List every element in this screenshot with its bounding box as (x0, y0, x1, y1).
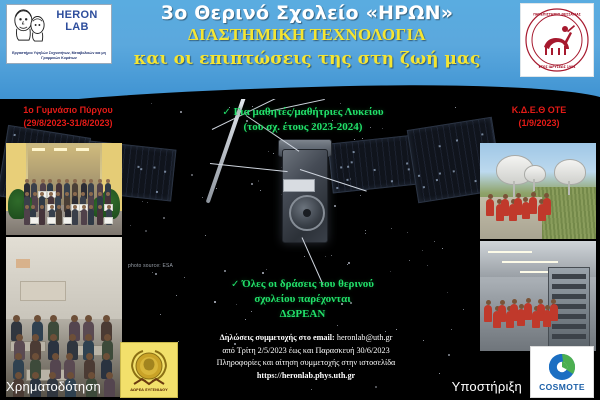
bullet-free-line3: ΔΩΡΕΑΝ (185, 307, 420, 322)
bullet-audience-line1: ✓ Για μαθητές/μαθήτριες Λυκείου (178, 105, 428, 120)
bullet-audience-line2: (του σχ. έτους 2023-2024) (178, 120, 428, 135)
bullet-free: ✓ Όλες οι δράσεις του θερινού σχολείου π… (185, 277, 420, 322)
university-of-thessaly-logo: ΠΑΝΕΠΙΣΤΗΜΙΟ ΘΕΣΣΑΛΙΑΣ ΕΤΟΣ ΙΔΡΥΣΕΩΣ 198… (520, 3, 594, 77)
image-credit: photo source: ESA (128, 263, 173, 269)
photo-classroom-workshop (6, 237, 122, 397)
solar-panel-right-inner (328, 135, 421, 194)
photo-technical-facility-image (480, 241, 596, 351)
bullet-free-line2: σχολείου παρέχονται (185, 292, 420, 307)
check-icon: ✓ (231, 279, 239, 290)
info-line-email: Δηλώσεις συμμετοχής στο email: heronlab@… (170, 332, 442, 345)
info-email-label: Δηλώσεις συμμετοχής στο email: (220, 333, 335, 342)
cosmote-wordmark: COSMOTE (539, 382, 585, 392)
poster-tagline: και οι επιπτώσεις της στη ζωή μας (112, 49, 502, 70)
venue-left-line2: (29/8/2023-31/8/2023) (4, 117, 132, 130)
support-logo: COSMOTE (530, 346, 594, 398)
photo-satellite-dishes (480, 143, 596, 239)
photo-classroom-workshop-image (6, 237, 122, 397)
poster-subtitle: ΔΙΑΣΤΗΜΙΚΗ ΤΕΧΝΟΛΟΓΙΑ (112, 25, 502, 45)
poster-title-block: 3ο Θερινό Σχολείο «ΗΡΩΝ» ΔΙΑΣΤΗΜΙΚΗ ΤΕΧΝ… (112, 2, 502, 70)
page-title: 3ο Θερινό Σχολείο «ΗΡΩΝ» (112, 2, 502, 24)
bullet-free-line1: ✓ Όλες οι δράσεις του θερινού (185, 277, 420, 292)
poster-canvas: HERON LAB Εργαστήριο Υψηλών Συχνοτήτων, … (0, 0, 600, 400)
photo-technical-facility (480, 241, 596, 351)
heron-philosopher-icon (10, 8, 48, 42)
info-website-url[interactable]: https://heronlab.phys.uth.gr (170, 370, 442, 383)
check-icon: ✓ (222, 107, 230, 118)
venue-label-right: Κ.Δ.Ε.Θ ΟΤΕ (1/9/2023) (482, 104, 596, 130)
svg-text:ΠΑΝΕΠΙΣΤΗΜΙΟ ΘΕΣΣΑΛΙΑΣ: ΠΑΝΕΠΙΣΤΗΜΙΟ ΘΕΣΣΑΛΙΑΣ (533, 13, 581, 17)
bullet-audience: ✓ Για μαθητές/μαθήτριες Λυκείου (του σχ.… (178, 105, 428, 135)
registration-info: Δηλώσεις συμμετοχής στο email: heronlab@… (170, 332, 442, 382)
spacecraft-high-gain-antenna (289, 195, 325, 231)
centaur-seal-icon: ΠΑΝΕΠΙΣΤΗΜΙΟ ΘΕΣΣΑΛΙΑΣ ΕΤΟΣ ΙΔΡΥΣΕΩΣ 198… (524, 7, 590, 73)
spacecraft-radiator (283, 179, 315, 192)
heron-lab-logo: HERON LAB Εργαστήριο Υψηλών Συχνοτήτων, … (6, 4, 112, 64)
bullet-audience-text1: Για μαθητές/μαθήτριες Λυκείου (234, 106, 384, 118)
cosmote-swirl-icon (548, 353, 576, 381)
info-email-value[interactable]: heronlab@uth.gr (337, 333, 393, 342)
svg-text:ΔΩΡΕΑ ΕΥΓΕΝΙΔΟΥ: ΔΩΡΕΑ ΕΥΓΕΝΙΔΟΥ (130, 388, 168, 392)
support-label: Υποστήριξη (452, 379, 522, 394)
golden-laurel-seal-icon: ΔΩΡΕΑ ΕΥΓΕΝΙΔΟΥ (124, 346, 174, 394)
svg-text:ΕΤΟΣ ΙΔΡΥΣΕΩΣ 1984: ΕΤΟΣ ΙΔΡΥΣΕΩΣ 1984 (539, 65, 577, 69)
photo-satellite-dishes-image (480, 143, 596, 239)
info-line-website-label: Πληροφορίες και αίτηση συμμετοχής στην ι… (170, 357, 442, 370)
heron-lab-name-line2: LAB (49, 21, 105, 33)
heron-lab-subtitle: Εργαστήριο Υψηλών Συχνοτήτων, Μεταβολικώ… (9, 51, 109, 61)
venue-right-line2: (1/9/2023) (482, 117, 596, 130)
venue-label-left: 1ο Γυμνάσιο Πύργου (29/8/2023-31/8/2023) (4, 104, 132, 130)
photo-school-group-image (6, 143, 122, 235)
poster-header: HERON LAB Εργαστήριο Υψηλών Συχνοτήτων, … (0, 0, 600, 99)
poster-body: photo source: ESA 1ο Γυμνάσιο Πύργου (29… (0, 99, 600, 400)
photo-school-group (6, 143, 122, 235)
info-line-dates: από Τρίτη 2/5/2023 έως και Παρασκευή 30/… (170, 345, 442, 358)
heron-lab-name: HERON LAB (49, 9, 105, 33)
bullet-free-text1: Όλες οι δράσεις του θερινού (242, 278, 374, 290)
funding-label: Χρηματοδότηση (6, 379, 101, 394)
heron-lab-name-line1: HERON (49, 9, 105, 21)
venue-right-line1: Κ.Δ.Ε.Θ ΟΤΕ (482, 104, 596, 117)
funding-logo: ΔΩΡΕΑ ΕΥΓΕΝΙΔΟΥ (120, 342, 178, 398)
venue-left-line1: 1ο Γυμνάσιο Πύργου (4, 104, 132, 117)
